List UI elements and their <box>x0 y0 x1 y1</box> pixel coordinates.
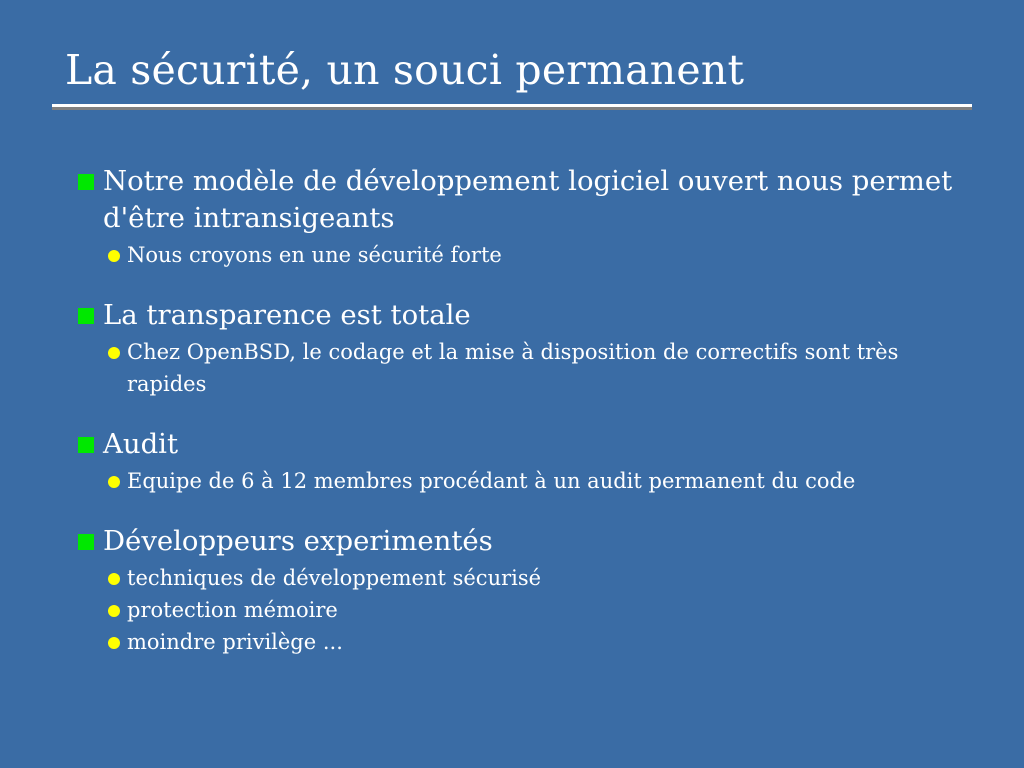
bullet-level2: Nous croyons en une sécurité forte <box>78 239 978 271</box>
bullet-level2-label: techniques de développement sécurisé <box>127 562 978 594</box>
bullet-level1-label: Audit <box>103 426 978 463</box>
green-square-bullet-icon <box>78 437 94 453</box>
bullet-group: Développeurs experimentés techniques de … <box>78 523 978 658</box>
bullet-level1: Notre modèle de développement logiciel o… <box>78 163 978 237</box>
bullet-level2: protection mémoire <box>78 594 978 626</box>
title-divider-shadow-line <box>52 107 972 110</box>
bullet-group: Audit Equipe de 6 à 12 membres procédant… <box>78 426 978 497</box>
sub-bullet-list: techniques de développement sécurisé pro… <box>78 562 978 658</box>
yellow-dot-bullet-icon <box>108 250 120 262</box>
bullet-level1-label: Notre modèle de développement logiciel o… <box>103 163 978 237</box>
bullet-level1-label: Développeurs experimentés <box>103 523 978 560</box>
bullet-level2: techniques de développement sécurisé <box>78 562 978 594</box>
green-square-bullet-icon <box>78 308 94 324</box>
bullet-group: La transparence est totale Chez OpenBSD,… <box>78 297 978 400</box>
bullet-level2: Equipe de 6 à 12 membres procédant à un … <box>78 465 978 497</box>
bullet-level1-label: La transparence est totale <box>103 297 978 334</box>
bullet-level2-label: Chez OpenBSD, le codage et la mise à dis… <box>127 336 978 400</box>
bullet-level2-label: protection mémoire <box>127 594 978 626</box>
yellow-dot-bullet-icon <box>108 476 120 488</box>
green-square-bullet-icon <box>78 534 94 550</box>
bullet-level2: moindre privilège ... <box>78 626 978 658</box>
yellow-dot-bullet-icon <box>108 573 120 585</box>
bullet-level2-label: moindre privilège ... <box>127 626 978 658</box>
bullet-level1: Développeurs experimentés <box>78 523 978 560</box>
slide-title-area: La sécurité, un souci permanent <box>52 44 972 110</box>
bullet-level1: La transparence est totale <box>78 297 978 334</box>
bullet-level2: Chez OpenBSD, le codage et la mise à dis… <box>78 336 978 400</box>
sub-bullet-list: Nous croyons en une sécurité forte <box>78 239 978 271</box>
yellow-dot-bullet-icon <box>108 605 120 617</box>
bullet-level2-label: Equipe de 6 à 12 membres procédant à un … <box>127 465 978 497</box>
bullet-level2-label: Nous croyons en une sécurité forte <box>127 239 978 271</box>
title-divider <box>52 104 972 110</box>
yellow-dot-bullet-icon <box>108 637 120 649</box>
slide-content-body: Notre modèle de développement logiciel o… <box>78 163 978 658</box>
bullet-group: Notre modèle de développement logiciel o… <box>78 163 978 271</box>
sub-bullet-list: Equipe de 6 à 12 membres procédant à un … <box>78 465 978 497</box>
yellow-dot-bullet-icon <box>108 347 120 359</box>
presentation-slide: La sécurité, un souci permanent Notre mo… <box>0 0 1024 768</box>
sub-bullet-list: Chez OpenBSD, le codage et la mise à dis… <box>78 336 978 400</box>
green-square-bullet-icon <box>78 174 94 190</box>
page-title: La sécurité, un souci permanent <box>52 44 972 96</box>
bullet-level1: Audit <box>78 426 978 463</box>
